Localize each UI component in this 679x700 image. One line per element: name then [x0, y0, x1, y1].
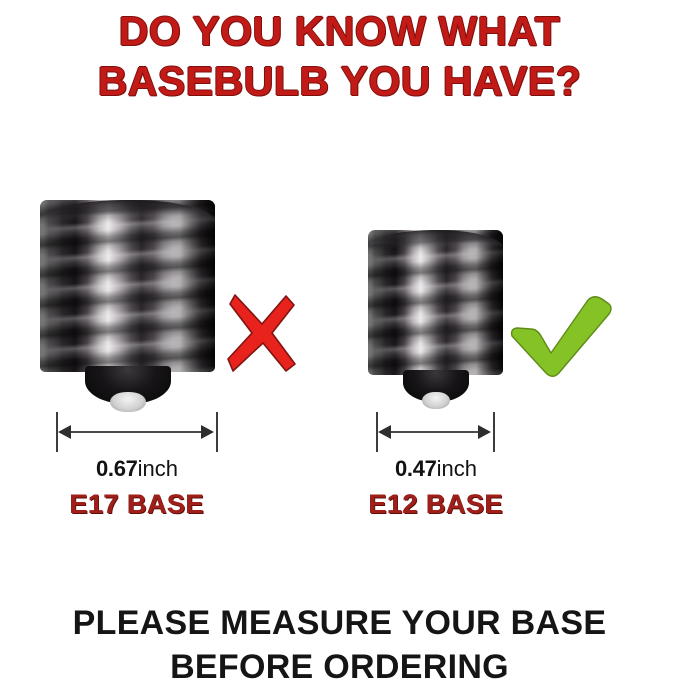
measurement-value: 0.67 — [96, 456, 138, 481]
bulb-comparison-right: 0.47inch E12 BASE — [340, 0, 679, 540]
dimension-tick-right — [493, 412, 495, 452]
footer-line-2: BEFORE ORDERING — [0, 650, 679, 684]
dimension-line-e12 — [376, 412, 496, 452]
bulb-shading — [368, 230, 503, 375]
verdict-mark-correct — [510, 296, 612, 378]
measurement-label-e17: 0.67inch — [36, 458, 238, 480]
dimension-arrow-left — [58, 425, 71, 439]
bulb-comparison-left: 0.67inch E17 BASE — [0, 0, 330, 540]
dimension-arrow-left — [378, 425, 391, 439]
verdict-mark-incorrect — [224, 292, 300, 374]
bulb-screw-shell — [368, 230, 503, 375]
base-type-label-e17: E17 BASE — [36, 491, 238, 518]
dimension-arrow-right — [201, 425, 214, 439]
bulb-base-image-e17 — [40, 200, 215, 415]
dimension-tick-right — [216, 412, 218, 452]
green-check-icon — [510, 296, 612, 378]
bulb-base-image-e12 — [368, 230, 503, 410]
measurement-value: 0.47 — [395, 456, 437, 481]
bulb-contact-point — [422, 392, 450, 409]
bulb-contact-point — [110, 392, 146, 412]
bulb-screw-shell — [40, 200, 215, 372]
base-type-label-e12: E12 BASE — [356, 491, 516, 518]
dimension-line-e17 — [56, 412, 218, 452]
measurement-label-e12: 0.47inch — [356, 458, 516, 480]
measurement-unit: inch — [437, 456, 477, 481]
footer-line-1: PLEASE MEASURE YOUR BASE — [0, 606, 679, 640]
infographic-page: DO YOU KNOW WHAT BASEBULB YOU HAVE? 0.67… — [0, 0, 679, 700]
measurement-unit: inch — [138, 456, 178, 481]
dimension-arrow-right — [478, 425, 491, 439]
bulb-shading — [40, 200, 215, 372]
dimension-measure-line — [66, 431, 208, 433]
dimension-measure-line — [386, 431, 485, 433]
red-x-icon — [224, 292, 300, 374]
